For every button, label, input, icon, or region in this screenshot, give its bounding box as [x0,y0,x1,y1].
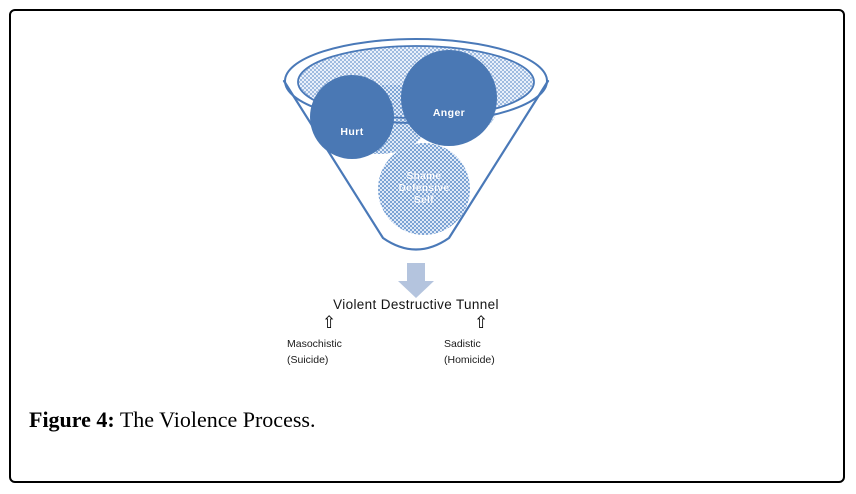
up-arrow-icon-sadistic: ⇧ [474,315,488,332]
circle-hurt [310,75,394,159]
funnel-output-arrow [398,263,434,298]
figure-frame: Hurt Anger Shame Defensive Self Violent … [9,9,845,483]
figure-caption-text: The Violence Process. [115,407,316,432]
figure-caption: Figure 4: The Violence Process. [29,407,315,433]
circle-shame-defensive-self [378,143,470,235]
violent-destructive-tunnel-block: Violent Destructive Tunnel ⇧ ⇧ Masochist… [266,297,566,376]
outcome-masochistic-detail: (Suicide) [287,352,342,368]
up-arrow-icon-masochistic: ⇧ [322,315,336,332]
circle-anger [401,50,497,146]
outcome-masochistic-label: Masochistic [287,336,342,352]
figure-caption-label: Figure 4: [29,407,115,432]
outcome-masochistic: Masochistic (Suicide) [287,336,342,369]
funnel-graphic [266,41,566,306]
violence-process-diagram: Hurt Anger Shame Defensive Self [266,41,566,306]
outcome-sadistic-detail: (Homicide) [444,352,495,368]
tunnel-arrow-row: ⇧ ⇧ [266,315,566,335]
outcome-sadistic: Sadistic (Homicide) [444,336,495,369]
tunnel-outcome-row: Masochistic (Suicide) Sadistic (Homicide… [266,336,566,376]
outcome-sadistic-label: Sadistic [444,336,495,352]
tunnel-title: Violent Destructive Tunnel [266,297,566,312]
